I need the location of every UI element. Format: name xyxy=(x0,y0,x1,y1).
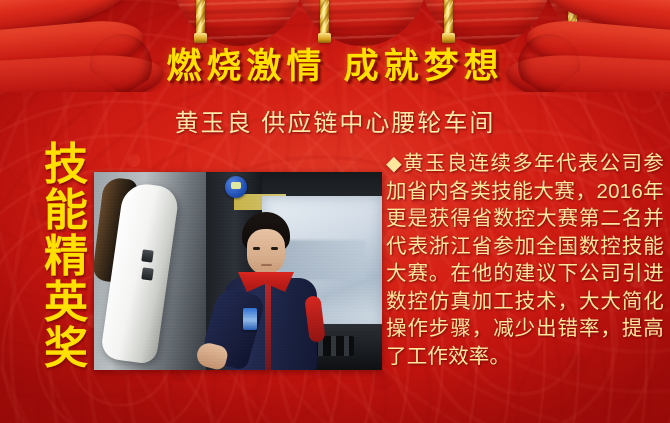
employee-photo xyxy=(94,172,382,370)
award-label-char: 英 xyxy=(41,280,91,326)
award-label-char: 技 xyxy=(41,142,91,188)
poster-subtitle: 黄玉良 供应链中心腰轮车间 xyxy=(0,103,670,138)
award-poster: 燃烧激情 成就梦想 黄玉良 供应链中心腰轮车间 技 能 精 英 奖 xyxy=(0,0,670,423)
award-label-vertical: 技 能 精 英 奖 xyxy=(41,142,91,372)
gold-tassel-icon xyxy=(444,0,453,36)
award-label-char: 奖 xyxy=(41,326,91,372)
achievement-description: ◆黄玉良连续多年代表公司参加省内各类技能大赛，2016年更是获得省数控大赛第二名… xyxy=(386,150,664,370)
gold-tassel-icon xyxy=(320,0,329,36)
poster-title: 燃烧激情 成就梦想 xyxy=(0,38,670,89)
award-label-char: 精 xyxy=(41,234,91,280)
award-label-char: 能 xyxy=(41,188,91,234)
photo-grain-overlay xyxy=(94,172,382,370)
